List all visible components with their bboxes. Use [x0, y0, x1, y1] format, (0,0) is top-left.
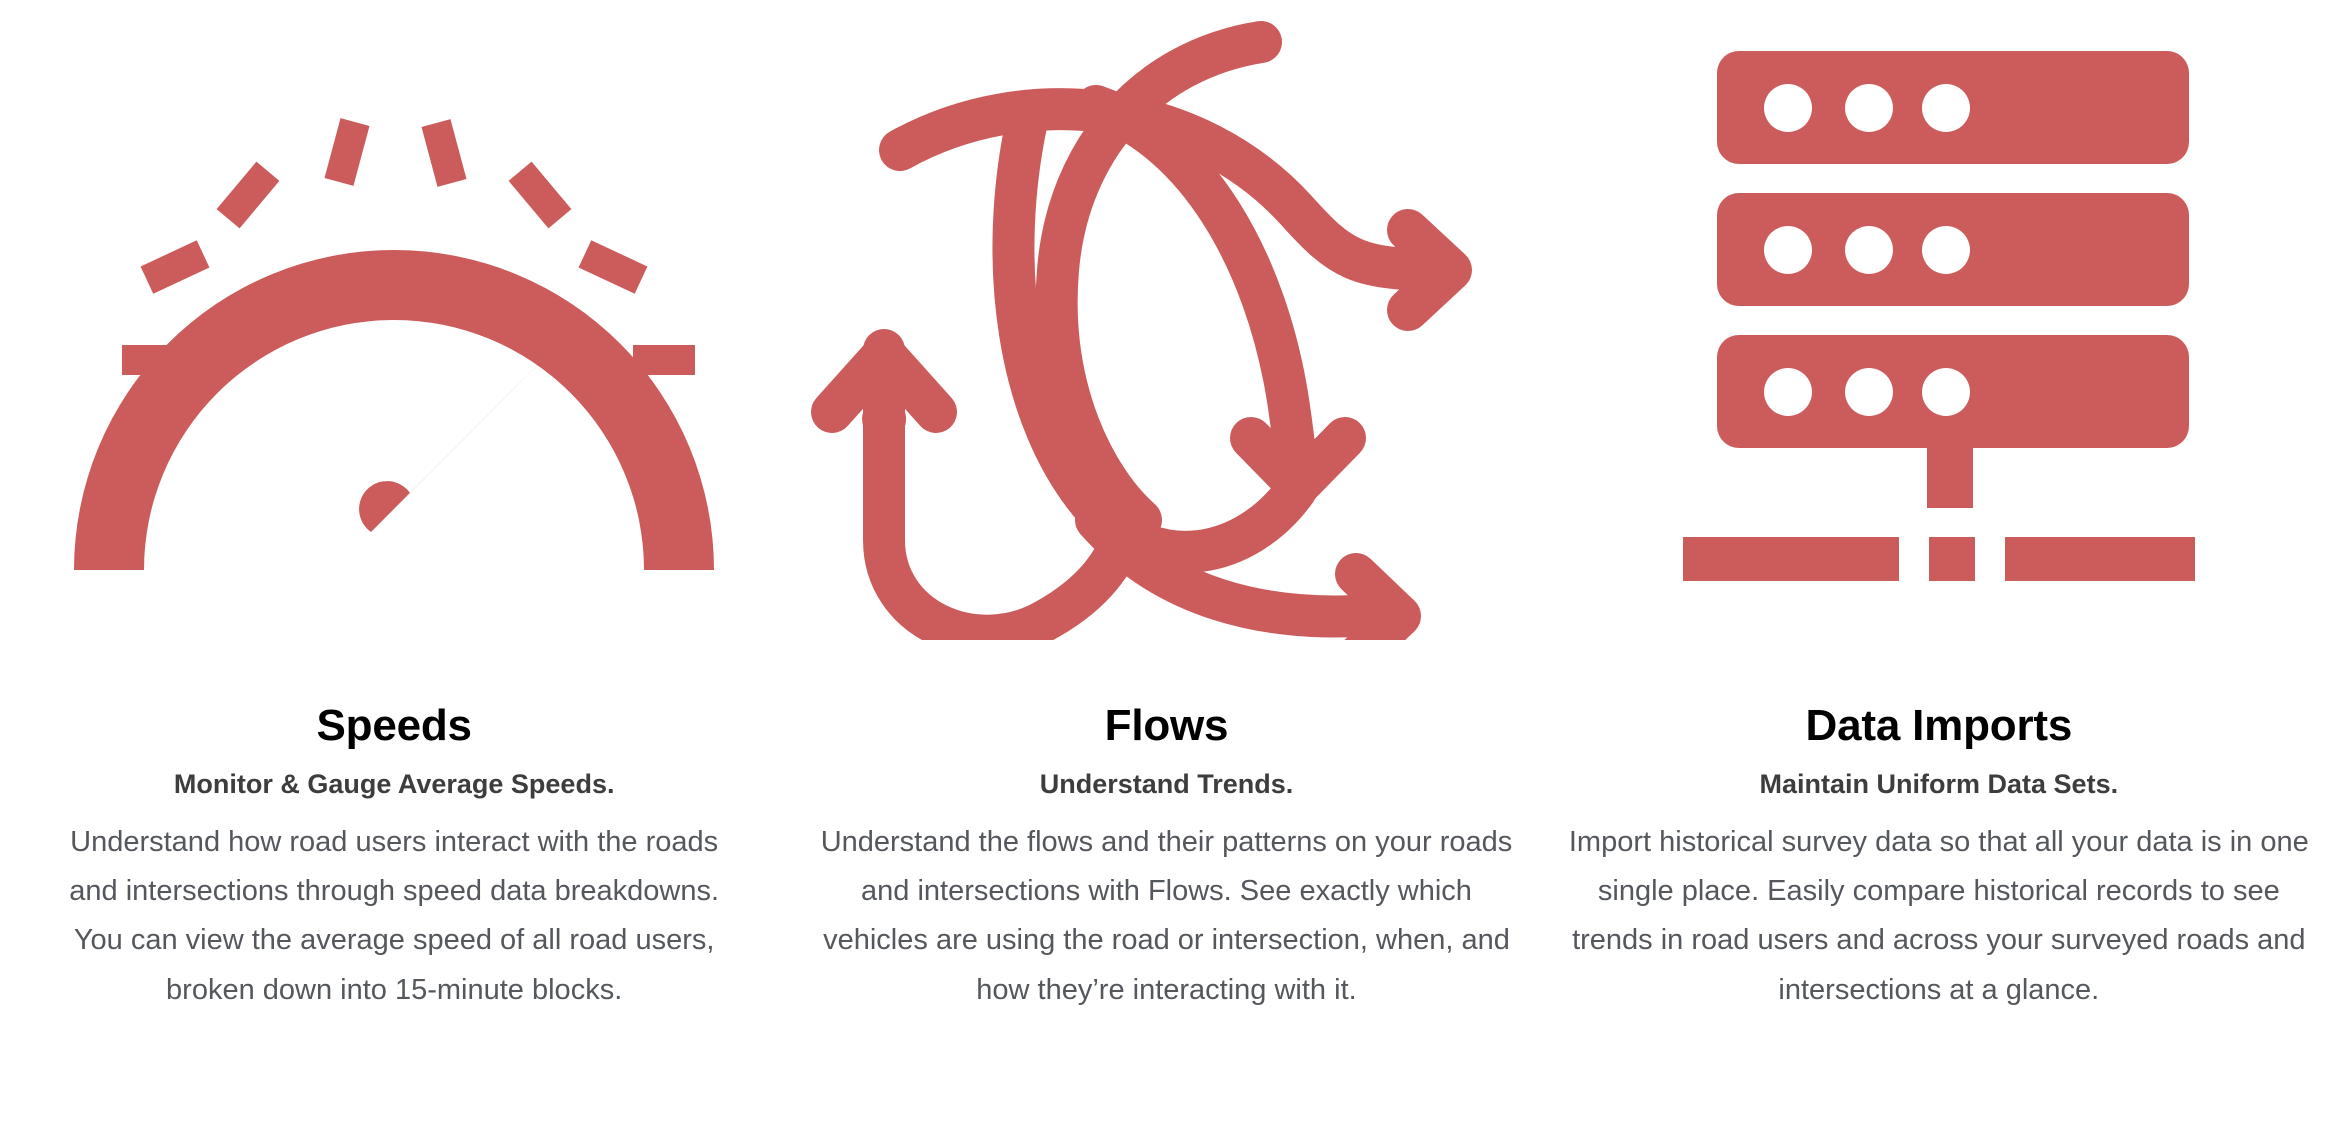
- feature-icon-container-flows: [780, 0, 1552, 700]
- server-led-1-3: [1922, 84, 1970, 132]
- server-base-bar-left: [1683, 537, 1899, 581]
- feature-card-flows: Flows Understand Trends. Understand the …: [780, 0, 1552, 1131]
- feature-text-speeds: Speeds Monitor & Gauge Average Speeds. U…: [8, 700, 780, 1015]
- server-connector-stem: [1927, 448, 1973, 508]
- feature-icon-container-data-imports: [1553, 0, 2325, 700]
- feature-subtitle: Monitor & Gauge Average Speeds.: [12, 767, 776, 802]
- server-led-2-1: [1764, 226, 1812, 274]
- server-led-1-2: [1845, 84, 1893, 132]
- crossing-flow-arrows-icon: [796, 20, 1536, 640]
- feature-body: Import historical survey data so that al…: [1569, 818, 2309, 1015]
- feature-body: Understand the flows and their patterns …: [806, 818, 1526, 1015]
- server-stack-icon: [1659, 25, 2219, 625]
- feature-body: Understand how road users interact with …: [44, 818, 744, 1015]
- feature-subtitle: Maintain Uniform Data Sets.: [1557, 767, 2321, 802]
- feature-subtitle: Understand Trends.: [784, 767, 1548, 802]
- server-led-3-1: [1764, 368, 1812, 416]
- feature-card-speeds: Speeds Monitor & Gauge Average Speeds. U…: [8, 0, 780, 1131]
- server-base-bar-center: [1929, 537, 1975, 581]
- features-grid: Speeds Monitor & Gauge Average Speeds. U…: [0, 0, 2333, 1131]
- feature-text-flows: Flows Understand Trends. Understand the …: [780, 700, 1552, 1015]
- feature-icon-container-speeds: [8, 0, 780, 700]
- server-led-3-3: [1922, 368, 1970, 416]
- speedometer-gauge-icon: [44, 90, 744, 590]
- server-led-1-1: [1764, 84, 1812, 132]
- feature-title: Flows: [784, 700, 1548, 753]
- server-led-2-3: [1922, 226, 1970, 274]
- feature-text-data-imports: Data Imports Maintain Uniform Data Sets.…: [1553, 700, 2325, 1015]
- feature-title: Data Imports: [1557, 700, 2321, 753]
- server-led-2-2: [1845, 226, 1893, 274]
- server-base-bar-right: [2005, 537, 2195, 581]
- feature-card-data-imports: Data Imports Maintain Uniform Data Sets.…: [1553, 0, 2325, 1131]
- server-led-3-2: [1845, 368, 1893, 416]
- feature-title: Speeds: [12, 700, 776, 753]
